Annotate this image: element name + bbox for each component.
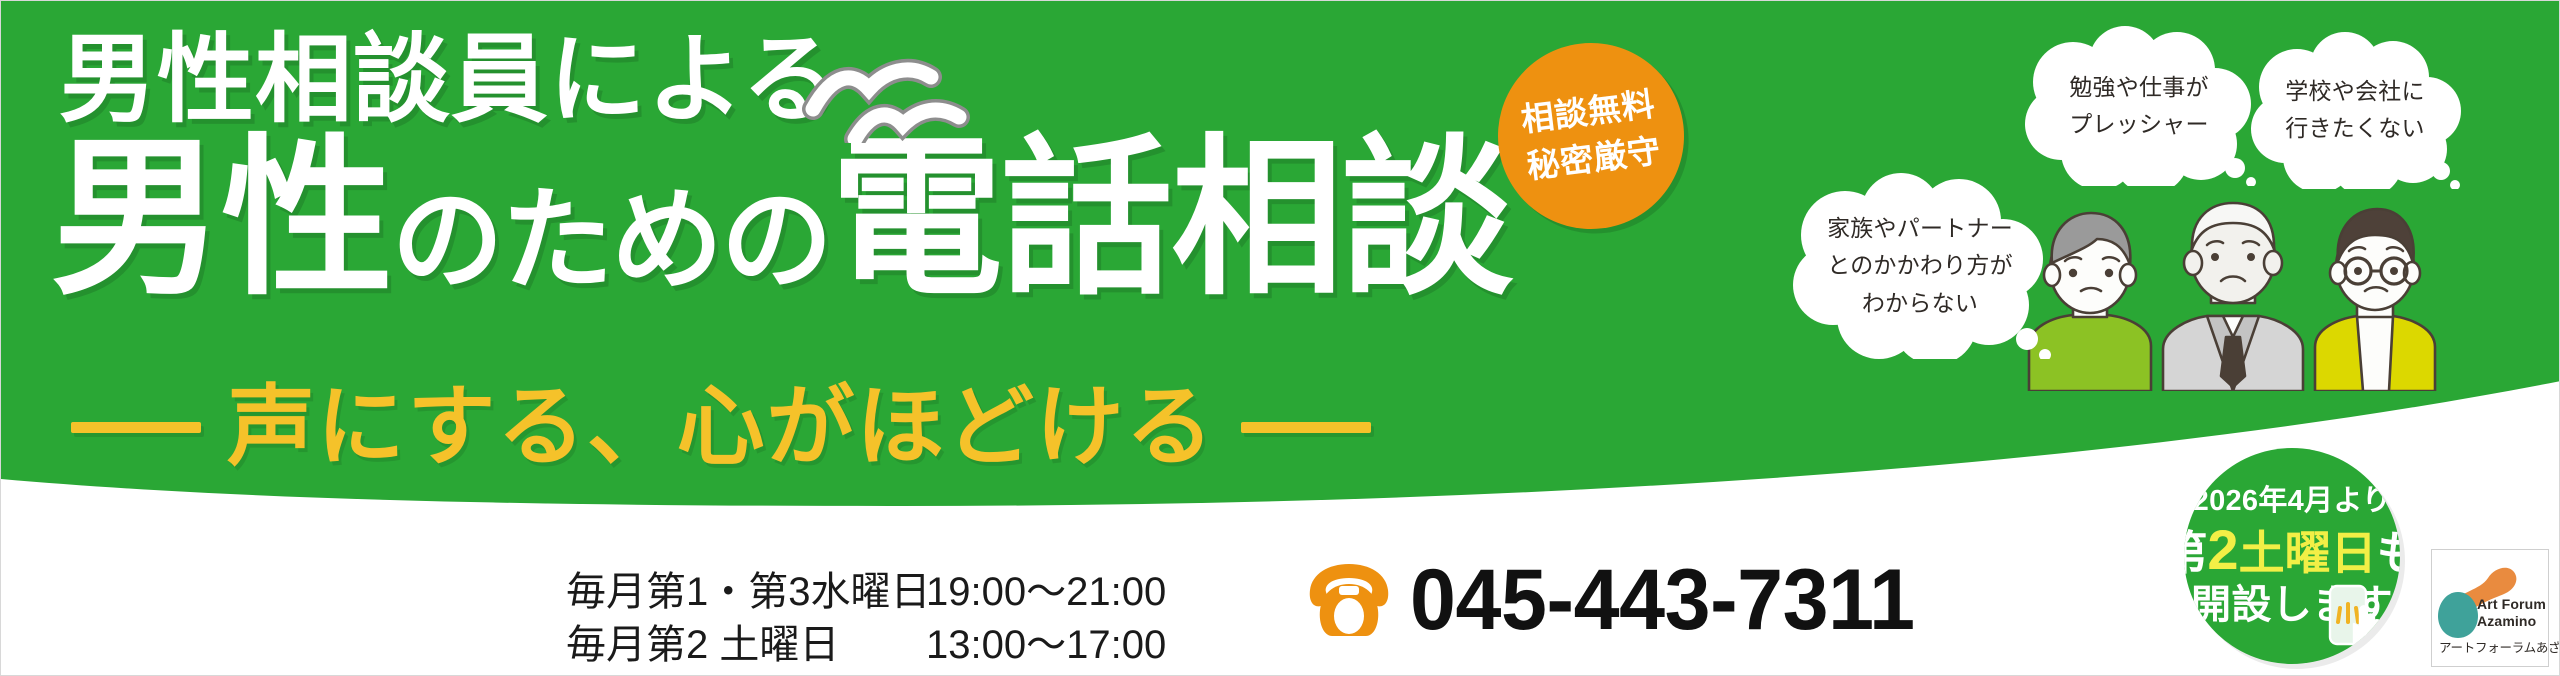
logo-text-jp: アートフォーラムあざみ野 (2439, 637, 2560, 656)
hand-phone-icon (2324, 584, 2394, 660)
schedule-row: 毎月第2 土曜日 13:00〜17:00 (566, 619, 1166, 672)
schedule-block: 毎月第1・第3水曜日 19:00〜21:00 毎月第2 土曜日 13:00〜17… (566, 566, 1166, 672)
tagline-dash-right (1241, 422, 1371, 433)
schedule-row: 毎月第1・第3水曜日 19:00〜21:00 (566, 566, 1166, 619)
schedule-day-2: 毎月第2 土曜日 (566, 619, 926, 672)
notice-line2-mid: 土曜日 (2239, 527, 2377, 579)
bubble-text-family: 家族やパートナー とのかかわり方が わからない (1827, 210, 2013, 322)
phone-number[interactable]: 045-443-7311 (1410, 557, 1915, 643)
headline-tagline-line: 声にする、心がほどける (71, 383, 1371, 471)
headline-main-line: 男性 のための 電話相談 (51, 133, 1512, 305)
banner-root: 男性相談員による 男性 のための 電話相談 声にする、心がほどける 相談無料 秘… (0, 0, 2560, 676)
bubble-text-pressure: 勉強や仕事が プレッシャー (2069, 69, 2208, 144)
people-illustration (2011, 191, 2441, 391)
thought-bubble-family: 家族やパートナー とのかかわり方が わからない (1789, 173, 2051, 359)
schedule-time-2: 13:00〜17:00 (926, 619, 1166, 672)
tagline-dash-left (71, 422, 201, 433)
logo-text-en-line2: Azamino (2477, 613, 2546, 630)
schedule-day-1: 毎月第1・第3水曜日 (566, 566, 926, 619)
thought-bubble-school: 学校や会社に 行きたくない (2247, 31, 2463, 189)
headline-eyebrow: 男性相談員による (59, 31, 840, 128)
headline-tagline: 声にする、心がほどける (227, 383, 1215, 471)
bubble-text-school: 学校や会社に 行きたくない (2285, 73, 2424, 148)
notice-line2-post: も (2377, 527, 2400, 579)
thought-bubble-pressure: 勉強や仕事が プレッシャー (2021, 26, 2257, 186)
logo-text-en-line1: Art Forum (2477, 596, 2546, 613)
notice-line1: 2026年4月より (2193, 487, 2392, 516)
logo-text-en: Art Forum Azamino (2477, 596, 2546, 629)
headline-eyebrow-line: 男性相談員による (59, 31, 840, 128)
art-forum-azamino-logo: Art Forum Azamino アートフォーラムあざみ野 (2431, 549, 2549, 667)
notice-line2-pre: 第 (2184, 527, 2207, 579)
phone-block[interactable]: 045-443-7311 (1306, 557, 1936, 643)
schedule-time-1: 19:00〜21:00 (926, 566, 1166, 619)
headline-main-1: 男性 (51, 133, 392, 305)
birds-icon (791, 31, 981, 143)
notice-line2-num: 2 (2207, 518, 2238, 581)
telephone-icon (1306, 562, 1392, 638)
new-saturday-notice-badge: 2026年4月より 第2土曜日も 開設します (2184, 448, 2400, 664)
headline-main-2: のための (392, 185, 831, 305)
headline-main-3: 電話相談 (831, 133, 1512, 305)
notice-line2: 第2土曜日も (2184, 522, 2400, 578)
